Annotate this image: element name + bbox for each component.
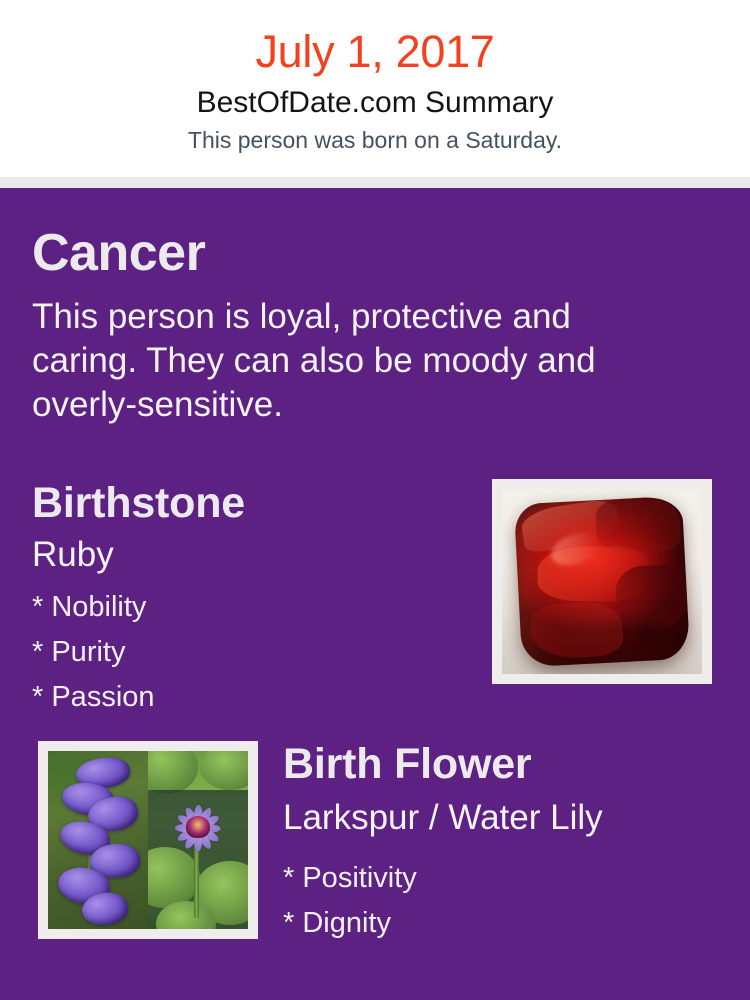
birth-flower-image: [48, 751, 248, 929]
page-title-date: July 1, 2017: [0, 26, 750, 78]
water-lily-photo: [148, 751, 248, 929]
ruby-crystal-shape: [514, 496, 690, 667]
site-summary-label: BestOfDate.com Summary: [0, 85, 750, 121]
birthstone-image-frame: [492, 479, 712, 684]
lily-stamen-center: [186, 816, 209, 838]
list-item: * Positivity: [283, 856, 703, 901]
ruby-photo-background: [502, 489, 702, 674]
header-section: July 1, 2017 BestOfDate.com Summary This…: [0, 0, 750, 177]
birthstone-name: Ruby: [32, 533, 114, 577]
birthstone-heading: Birthstone: [32, 477, 245, 529]
list-item: * Nobility: [32, 585, 452, 630]
header-divider: [0, 177, 750, 188]
list-item: * Purity: [32, 630, 452, 675]
summary-card: July 1, 2017 BestOfDate.com Summary This…: [0, 0, 750, 1000]
ruby-gemstone-image: [502, 489, 702, 674]
birth-flower-trait-list: * Positivity * Dignity: [283, 856, 703, 946]
larkspur-photo: [48, 751, 148, 929]
birth-flower-heading: Birth Flower: [283, 738, 531, 790]
birth-flower-name: Larkspur / Water Lily: [283, 796, 603, 840]
ruby-facet: [529, 600, 624, 660]
birthstone-trait-list: * Nobility * Purity * Passion: [32, 585, 452, 720]
list-item: * Passion: [32, 675, 452, 720]
zodiac-sign-title: Cancer: [32, 222, 205, 284]
birth-day-of-week-text: This person was born on a Saturday.: [0, 126, 750, 154]
flower-diptych: [48, 751, 248, 929]
lily-pad: [200, 751, 248, 790]
zodiac-description: This person is loyal, protective and car…: [32, 295, 652, 427]
lily-pad: [148, 751, 198, 794]
water-lily-bloom: [164, 801, 232, 858]
ruby-shadow: [624, 617, 676, 652]
list-item: * Dignity: [283, 901, 703, 946]
birth-flower-image-frame: [38, 741, 258, 939]
